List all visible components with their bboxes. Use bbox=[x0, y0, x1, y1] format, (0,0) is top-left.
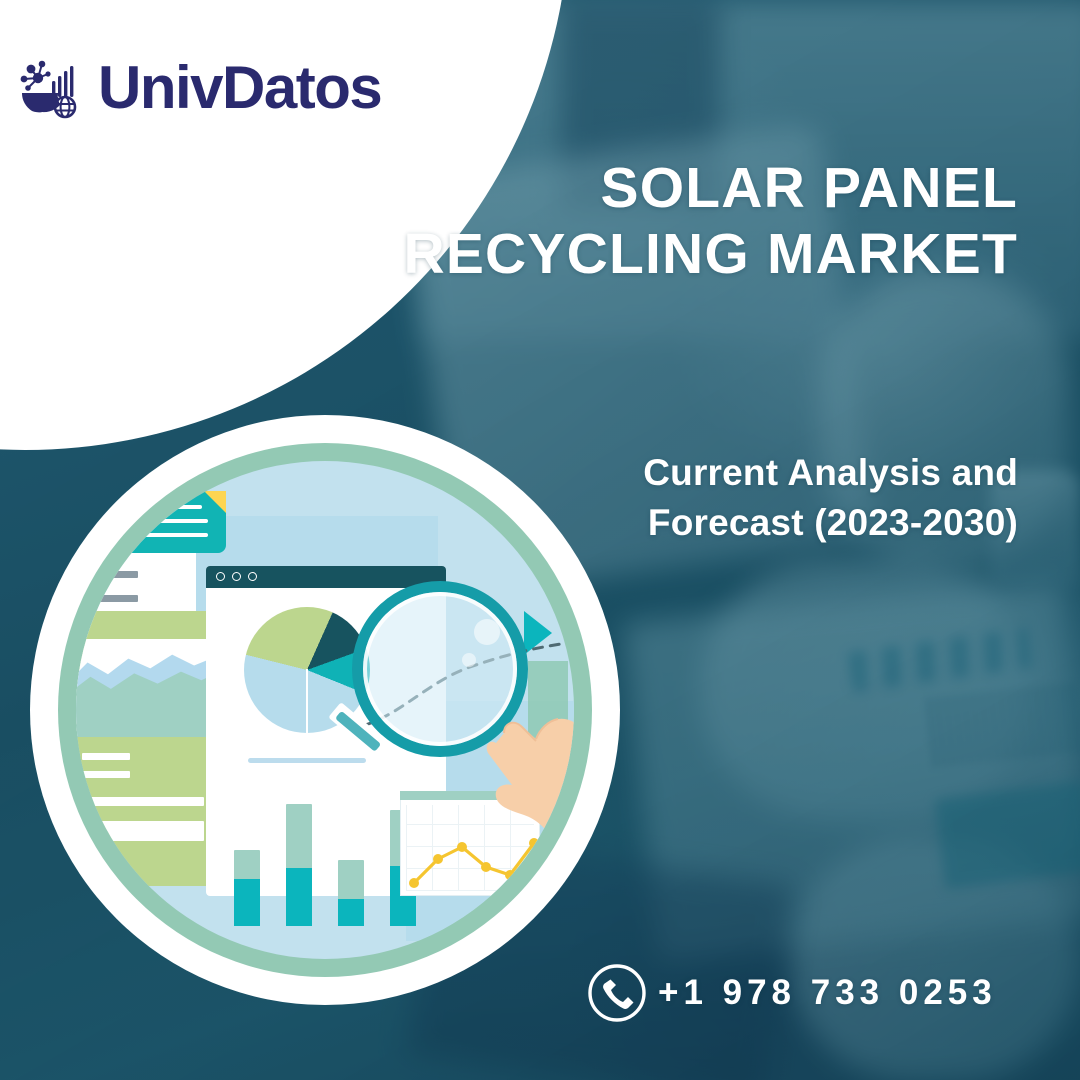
data-analysis-illustration bbox=[76, 461, 574, 959]
page-subtitle-line-1: Current Analysis and bbox=[643, 452, 1018, 493]
page-title-line-2: RECYCLING MARKET bbox=[403, 222, 1018, 286]
illus-doc-line bbox=[80, 571, 138, 578]
illus-note-line bbox=[134, 533, 208, 537]
illus-bar-fill bbox=[234, 879, 260, 926]
illus-browser-dot bbox=[248, 572, 257, 581]
illus-magnifier-glare-1 bbox=[474, 619, 500, 645]
illus-note-line bbox=[134, 519, 208, 523]
illus-section-divider bbox=[248, 758, 366, 763]
page-title: SOLAR PANEL RECYCLING MARKET bbox=[358, 155, 1018, 287]
phone-handset-icon bbox=[586, 962, 648, 1024]
illus-note-line bbox=[140, 505, 202, 509]
phone-number: +1 978 733 0253 bbox=[658, 973, 997, 1013]
illus-browser-dot bbox=[232, 572, 241, 581]
illus-doc-dot bbox=[104, 543, 112, 548]
poster-canvas: UnivDatos SOLAR PANEL RECYCLING MARKET C… bbox=[0, 0, 1080, 1080]
brand-logo[interactable]: UnivDatos bbox=[18, 55, 381, 121]
illus-gdoc-block bbox=[92, 821, 204, 841]
page-subtitle-line-2: Forecast (2023-2030) bbox=[648, 502, 1018, 543]
brand-name: UnivDatos bbox=[98, 58, 381, 118]
illus-browser-titlebar bbox=[206, 566, 446, 588]
illus-hand bbox=[478, 699, 574, 869]
illus-pie-separator bbox=[306, 669, 308, 733]
illus-bar-fill bbox=[286, 868, 312, 926]
illus-doc-line bbox=[76, 595, 138, 602]
page-title-line-1: SOLAR PANEL bbox=[601, 156, 1019, 220]
illus-bar bbox=[338, 860, 364, 926]
illus-magnifier-glare-2 bbox=[462, 653, 476, 667]
illus-gdoc-line bbox=[76, 797, 204, 806]
illus-gdoc-line bbox=[82, 753, 130, 760]
illus-bar bbox=[286, 804, 312, 926]
illus-gdoc-line bbox=[78, 771, 130, 778]
illus-bar-fill bbox=[338, 899, 364, 926]
illus-browser-dot bbox=[216, 572, 225, 581]
univdatos-globe-bars-icon bbox=[18, 55, 86, 121]
contact-phone[interactable]: +1 978 733 0253 bbox=[586, 962, 997, 1024]
illus-bar bbox=[234, 850, 260, 926]
